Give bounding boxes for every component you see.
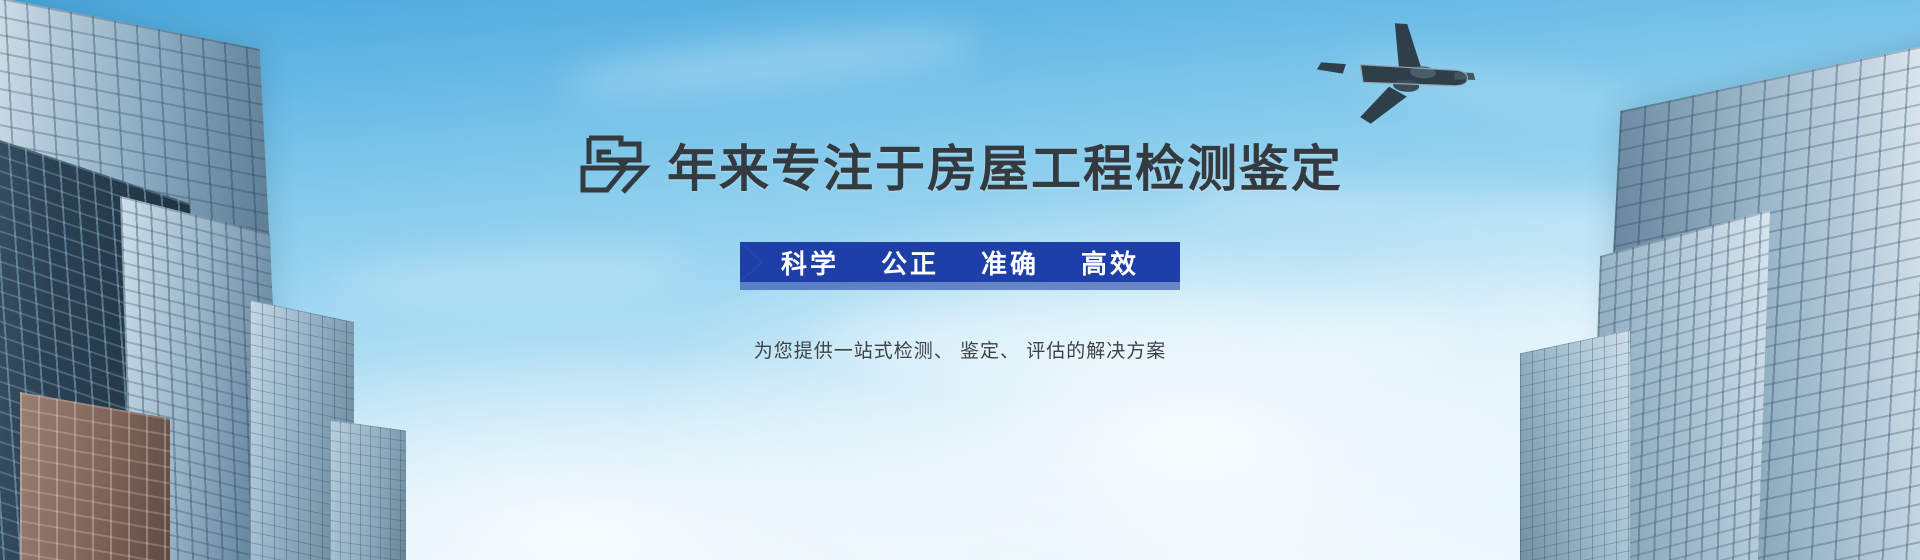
ribbon-item-3: 准确 [981,244,1039,281]
ribbon-item-1: 科学 [781,244,839,281]
duo-character-logo-icon [577,130,663,194]
hero-banner: 年来专注于房屋工程检测鉴定 科学 公正 准确 高效 为您提供一站式检测、 鉴定、… [0,0,1920,560]
ribbon-items: 科学 公正 准确 高效 [740,234,1180,290]
headline-text: 年来专注于房屋工程检测鉴定 [667,144,1343,194]
headline: 年来专注于房屋工程检测鉴定 [577,128,1343,194]
ribbon-item-2: 公正 [881,244,939,281]
slogan-ribbon: 科学 公正 准确 高效 [740,234,1180,290]
banner-content: 年来专注于房屋工程检测鉴定 科学 公正 准确 高效 为您提供一站式检测、 鉴定、… [0,0,1920,560]
subtitle-text: 为您提供一站式检测、 鉴定、 评估的解决方案 [754,336,1167,363]
ribbon-item-4: 高效 [1081,244,1139,281]
